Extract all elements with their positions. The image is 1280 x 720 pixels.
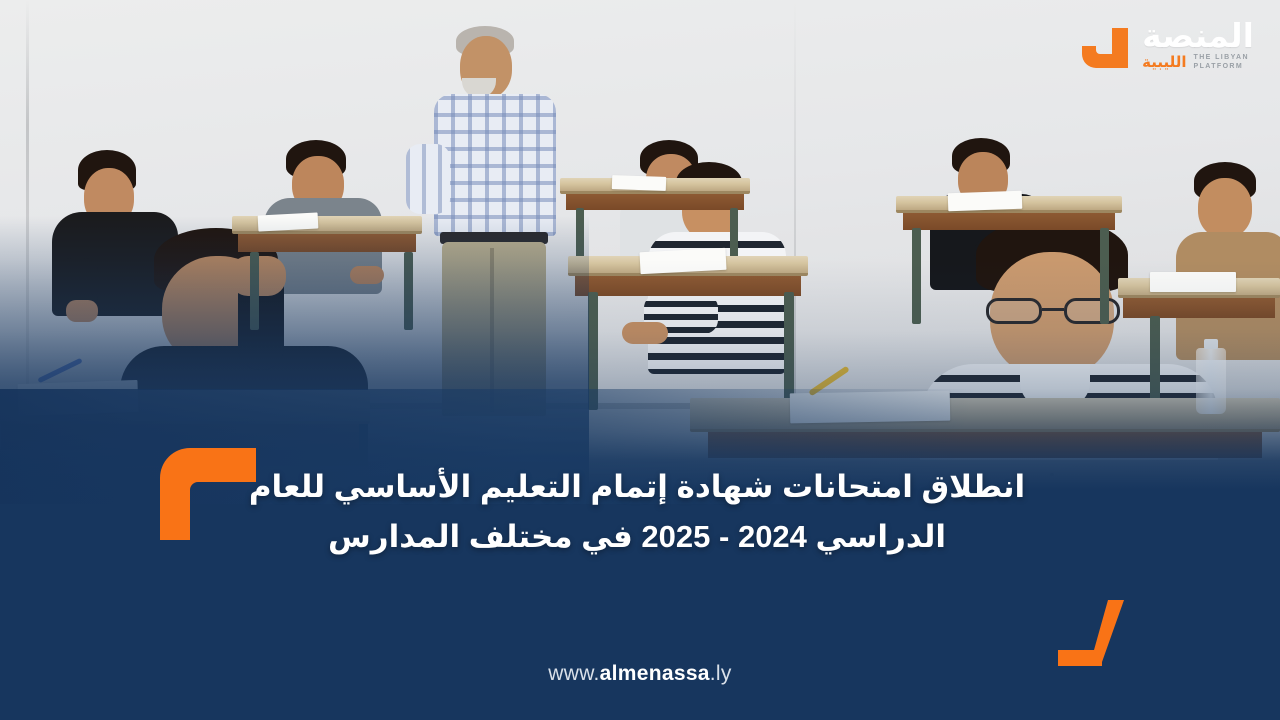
headline-line-2: الدراسي 2024 - 2025 في مختلف المدارس: [192, 512, 1082, 562]
website-url[interactable]: www.almenassa.ly: [0, 662, 1280, 686]
desk-foreground-right: [690, 398, 1280, 432]
brand-name-arabic-sub: الليبية: [1142, 55, 1186, 70]
orange-tick-decor-icon: [1050, 600, 1138, 666]
page-title: انطلاق امتحانات شهادة إتمام التعليم الأس…: [192, 462, 1082, 562]
url-prefix: www.: [548, 662, 599, 685]
orange-bracket-logo-icon: [1074, 14, 1136, 76]
url-brand: almenassa: [600, 662, 710, 685]
teacher-figure: [432, 26, 562, 416]
water-bottle: [1196, 348, 1226, 414]
brand-name-arabic: المنصة: [1142, 19, 1254, 52]
brand-name-english-line1: THE LIBYAN: [1194, 53, 1249, 62]
brand-logo[interactable]: المنصة الليبية THE LIBYAN PLATFORM: [1074, 14, 1254, 76]
url-tld: .ly: [710, 662, 732, 685]
brand-name-english: THE LIBYAN PLATFORM: [1194, 53, 1249, 72]
news-graphic-card: المنصة الليبية THE LIBYAN PLATFORM: [0, 0, 1280, 720]
brand-name-english-line2: PLATFORM: [1194, 62, 1249, 71]
headline-line-1: انطلاق امتحانات شهادة إتمام التعليم الأس…: [192, 462, 1082, 512]
brand-logo-text: المنصة الليبية THE LIBYAN PLATFORM: [1142, 19, 1254, 72]
